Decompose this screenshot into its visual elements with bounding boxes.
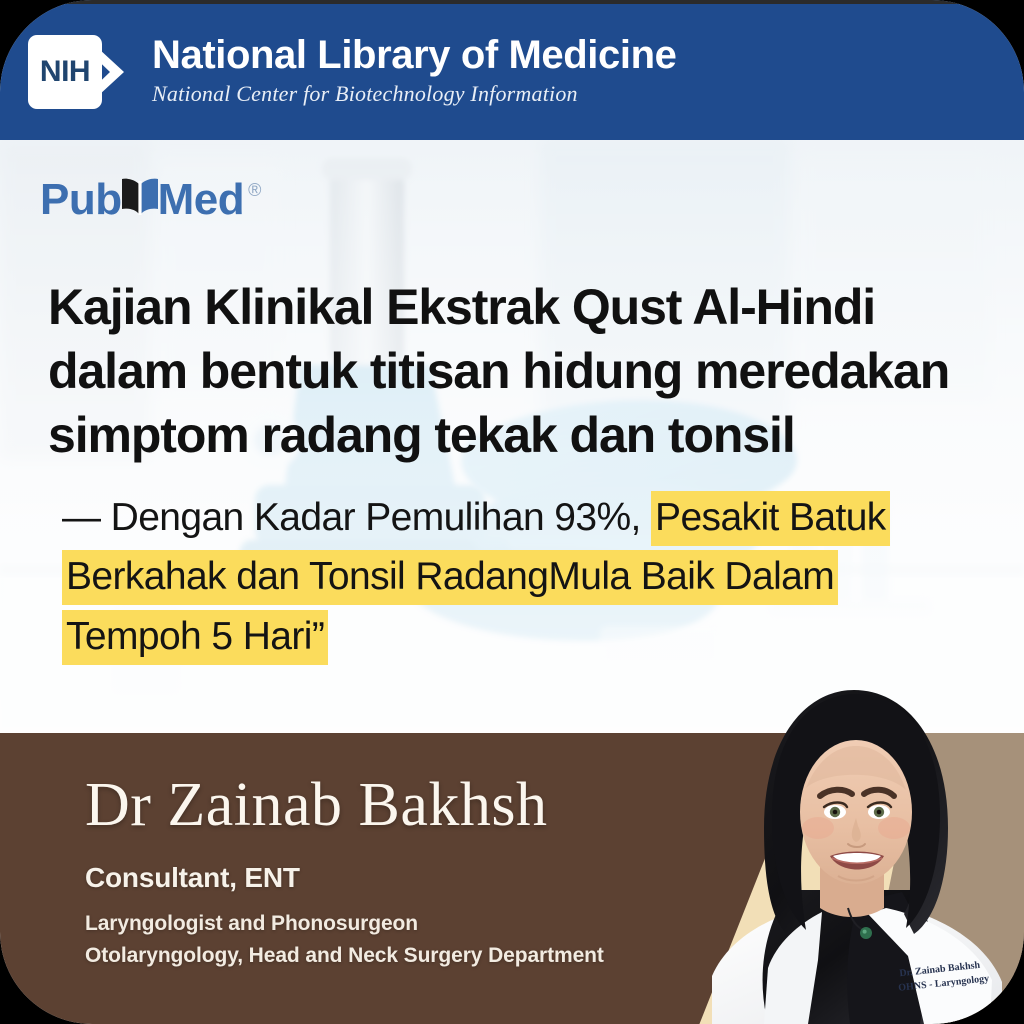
pubmed-logo[interactable]: Pub Med ® [40,178,261,222]
nih-logo: NIH [28,35,132,109]
subtitle-highlight-1: Pesakit Batuk [651,491,890,546]
subtitle-highlight-2: Berkahak dan Tonsil RadangMula Baik Dala… [62,550,838,605]
subtitle-row-2: Berkahak dan Tonsil RadangMula Baik Dala… [62,547,962,606]
page-title: Kajian Klinikal Ekstrak Qust Al-Hindi da… [48,275,978,467]
doctor-name: Dr Zainab Bakhsh [85,773,604,838]
main-content-area: Pub Med ® Kajian Klinikal Ekstrak Qust A… [0,140,1024,735]
pubmed-logo-med: Med [158,178,245,222]
agency-title: National Library of Medicine [152,34,676,76]
doctor-portrait-photo: Dr. Zainab Bakhsh OHNS - Laryngology [672,676,1024,1024]
subtitle-row-1: — Dengan Kadar Pemulihan 93%, Pesakit Ba… [62,488,962,547]
subtitle-lead-text: — Dengan Kadar Pemulihan 93%, [62,496,651,539]
subtitle-row-3: Tempoh 5 Hari” [62,607,962,666]
nih-header-bar: NIH National Library of Medicine Nationa… [0,0,1024,140]
open-book-icon [120,175,160,219]
social-card: NIH National Library of Medicine Nationa… [0,0,1024,1024]
doctor-role: Consultant, ENT [85,862,604,894]
headline-line-2: dalam bentuk titisan hidung meredakan [48,339,978,403]
subtitle-quote: — Dengan Kadar Pemulihan 93%, Pesakit Ba… [62,488,962,666]
nih-agency-text: National Library of Medicine National Ce… [152,34,676,110]
subtitle-highlight-3: Tempoh 5 Hari” [62,610,328,665]
doctor-department: Otolaryngology, Head and Neck Surgery De… [85,940,604,972]
doctor-specialty: Laryngologist and Phonosurgeon [85,908,604,940]
headline-line-1: Kajian Klinikal Ekstrak Qust Al-Hindi [48,275,978,339]
pubmed-logo-pub: Pub [40,178,122,222]
registered-trademark-icon: ® [248,180,261,201]
doctor-bio-block: Dr Zainab Bakhsh Consultant, ENT Laryngo… [85,773,604,971]
agency-subtitle: National Center for Biotechnology Inform… [152,79,676,110]
headline-line-3: simptom radang tekak dan tonsil [48,403,978,467]
nih-abbreviation: NIH [40,57,90,87]
chevron-right-icon [84,35,132,109]
